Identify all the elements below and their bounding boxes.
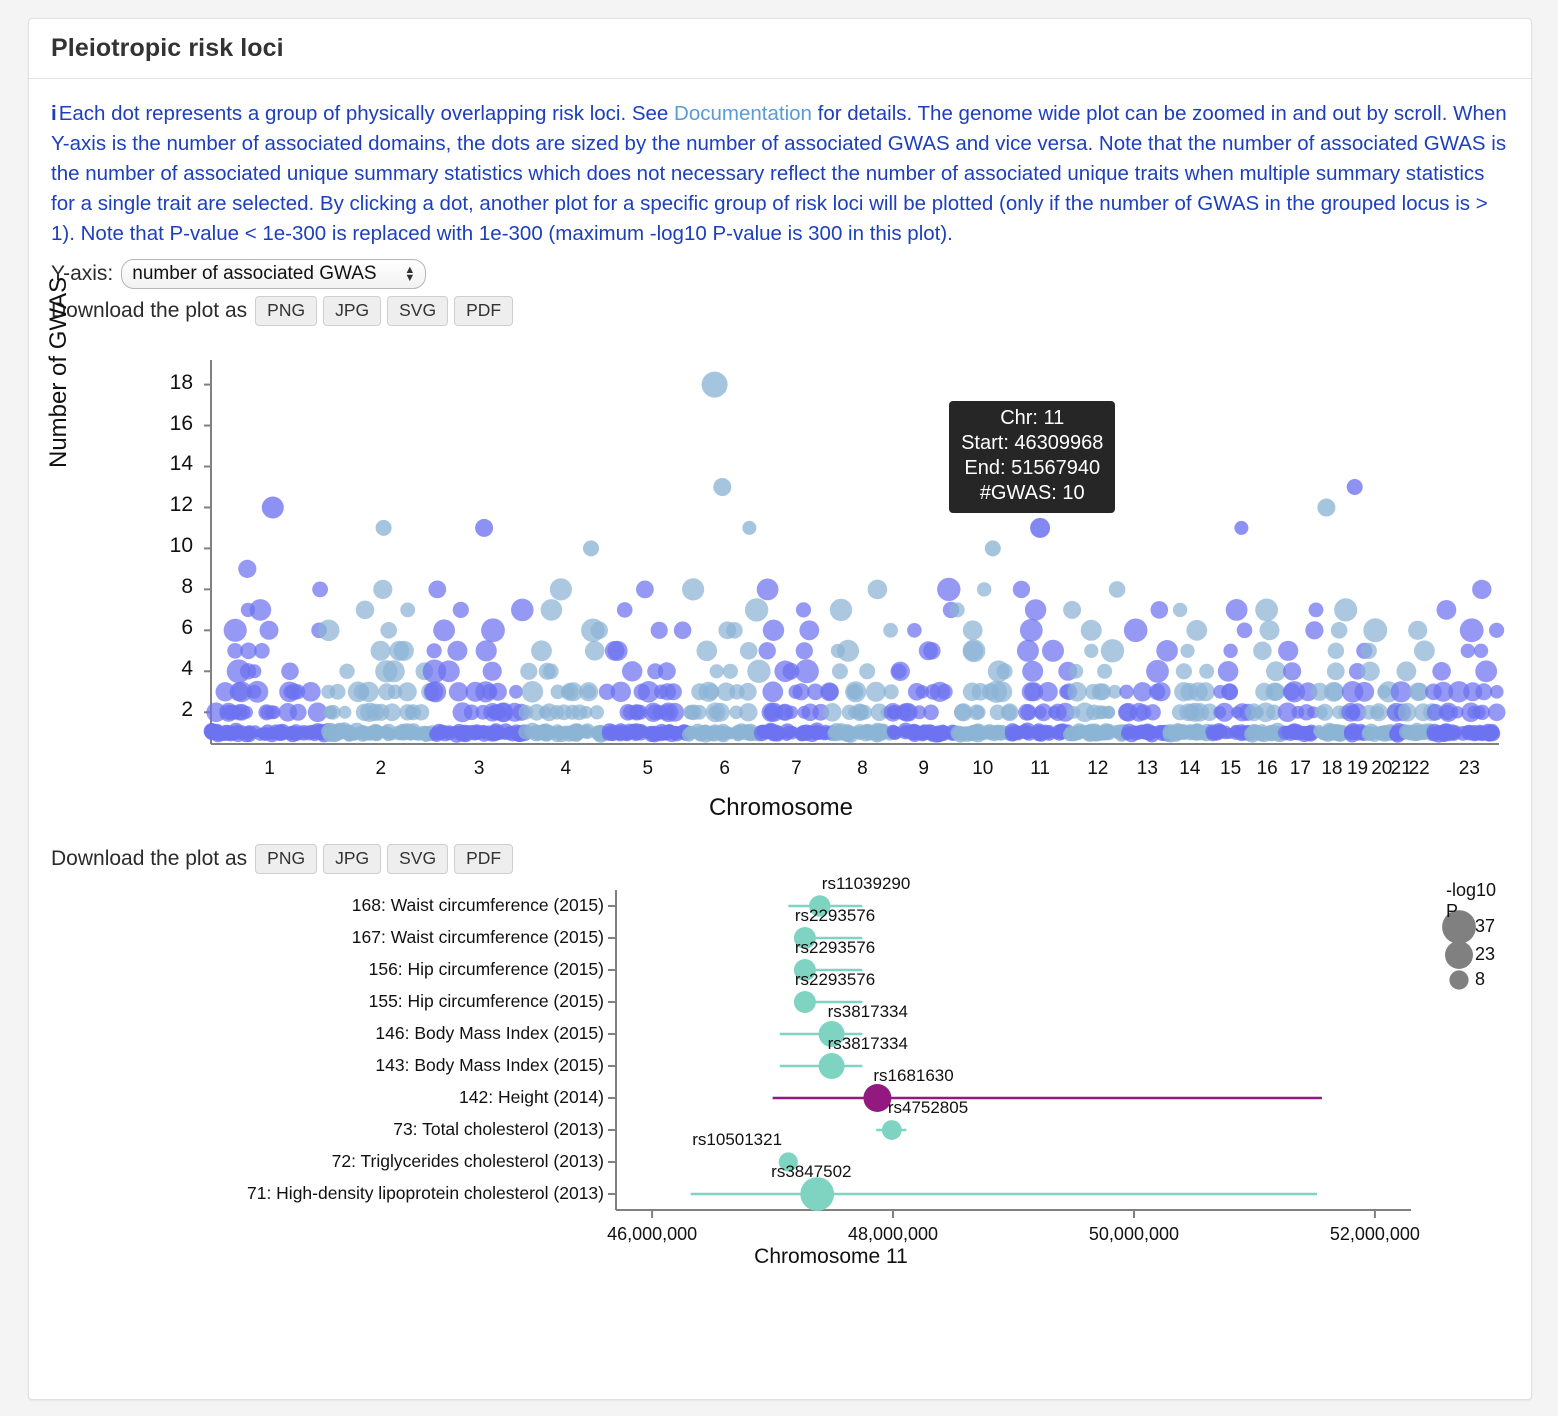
- locus-plot-canvas[interactable]: [51, 880, 1511, 1280]
- y-tick-label: 10: [153, 534, 193, 558]
- tooltip-chr: Chr: 11: [961, 406, 1103, 431]
- y-tick-label: 6: [153, 616, 193, 640]
- snp-label: rs11039290: [822, 874, 911, 894]
- locus-zoom-plot[interactable]: 168: Waist circumference (2015)167: Wais…: [51, 880, 1511, 1280]
- x-tick-label: 3: [459, 758, 499, 780]
- tooltip-gwas: #GWAS: 10: [961, 481, 1103, 506]
- trait-label: 167: Waist circumference (2015): [352, 927, 604, 948]
- trait-label: 143: Body Mass Index (2015): [375, 1055, 604, 1076]
- x-tick-label: 4: [546, 758, 586, 780]
- card-body: iEach dot represents a group of physical…: [29, 79, 1531, 1280]
- documentation-link[interactable]: Documentation: [674, 102, 812, 125]
- download-svg-button-top[interactable]: SVG: [387, 296, 448, 326]
- download-pdf-button-bottom[interactable]: PDF: [454, 844, 513, 874]
- point-tooltip: Chr: 11 Start: 46309968 End: 51567940 #G…: [949, 401, 1115, 513]
- download-jpg-button-top[interactable]: JPG: [323, 296, 381, 326]
- snp-label: rs2293576: [795, 938, 875, 958]
- pleiotropic-risk-loci-card: Pleiotropic risk loci iEach dot represen…: [28, 18, 1532, 1400]
- y-tick-label: 12: [153, 493, 193, 517]
- y-tick-label: 8: [153, 575, 193, 599]
- genome-plot-canvas[interactable]: [51, 342, 1511, 822]
- x-tick-label: 8: [842, 758, 882, 780]
- info-paragraph: iEach dot represents a group of physical…: [51, 99, 1509, 249]
- yaxis-select-wrapper: number of associated GWASnumber of assoc…: [121, 259, 426, 289]
- locus-x-tick-label: 52,000,000: [1295, 1224, 1455, 1245]
- locus-x-tick-label: 46,000,000: [572, 1224, 732, 1245]
- genome-wide-plot[interactable]: Number of GWAS Chromosome 24681012141618…: [51, 342, 1511, 822]
- x-tick-label: 7: [776, 758, 816, 780]
- snp-label: rs3817334: [828, 1034, 908, 1054]
- trait-label: 156: Hip circumference (2015): [369, 959, 604, 980]
- locus-x-tick-label: 50,000,000: [1054, 1224, 1214, 1245]
- trait-label: 142: Height (2014): [459, 1087, 604, 1108]
- x-tick-label: 1: [250, 758, 290, 780]
- x-tick-label: 9: [904, 758, 944, 780]
- x-tick-label: 15: [1211, 758, 1251, 780]
- yaxis-control-row: Y-axis: number of associated GWASnumber …: [51, 259, 1509, 289]
- info-text-before-link: Each dot represents a group of physicall…: [59, 102, 674, 125]
- snp-label: rs10501321: [692, 1130, 782, 1150]
- x-tick-label: 6: [705, 758, 745, 780]
- snp-label: rs3847502: [771, 1162, 851, 1182]
- locus-x-tick-label: 48,000,000: [813, 1224, 973, 1245]
- x-tick-label: 22: [1399, 758, 1439, 780]
- info-icon: i: [51, 102, 57, 125]
- x-tick-label: 11: [1020, 758, 1060, 780]
- trait-label: 72: Triglycerides cholesterol (2013): [332, 1151, 604, 1172]
- page-title: Pleiotropic risk loci: [51, 34, 284, 63]
- y-tick-label: 18: [153, 371, 193, 395]
- x-tick-label: 2: [361, 758, 401, 780]
- download-jpg-button-bottom[interactable]: JPG: [323, 844, 381, 874]
- download-svg-button-bottom[interactable]: SVG: [387, 844, 448, 874]
- snp-label: rs3817334: [828, 1002, 908, 1022]
- snp-label: rs1681630: [873, 1066, 953, 1086]
- legend-size-value: 23: [1475, 944, 1495, 965]
- trait-label: 155: Hip circumference (2015): [369, 991, 604, 1012]
- download-pdf-button-top[interactable]: PDF: [454, 296, 513, 326]
- legend-size-value: 37: [1475, 916, 1495, 937]
- snp-label: rs4752805: [888, 1098, 968, 1118]
- download-row-bottom: Download the plot as PNG JPG SVG PDF: [51, 844, 1509, 874]
- download-label-bottom: Download the plot as: [51, 847, 247, 871]
- snp-label: rs2293576: [795, 970, 875, 990]
- download-label-top: Download the plot as: [51, 299, 247, 323]
- snp-label: rs2293576: [795, 906, 875, 926]
- legend-size-value: 8: [1475, 969, 1485, 990]
- trait-label: 146: Body Mass Index (2015): [375, 1023, 604, 1044]
- locus-plot-xlabel: Chromosome 11: [631, 1245, 1031, 1269]
- y-tick-label: 4: [153, 657, 193, 681]
- x-tick-label: 13: [1127, 758, 1167, 780]
- download-row-top: Download the plot as PNG JPG SVG PDF: [51, 296, 1509, 326]
- x-tick-label: 5: [628, 758, 668, 780]
- yaxis-select[interactable]: number of associated GWASnumber of assoc…: [121, 259, 426, 289]
- trait-label: 168: Waist circumference (2015): [352, 895, 604, 916]
- x-tick-label: 12: [1078, 758, 1118, 780]
- trait-label: 73: Total cholesterol (2013): [393, 1119, 604, 1140]
- download-png-button-bottom[interactable]: PNG: [255, 844, 317, 874]
- y-tick-label: 14: [153, 452, 193, 476]
- tooltip-end: End: 51567940: [961, 456, 1103, 481]
- x-tick-label: 10: [963, 758, 1003, 780]
- x-tick-label: 23: [1449, 758, 1489, 780]
- y-tick-label: 2: [153, 698, 193, 722]
- trait-label: 71: High-density lipoprotein cholesterol…: [247, 1183, 604, 1204]
- download-png-button-top[interactable]: PNG: [255, 296, 317, 326]
- tooltip-start: Start: 46309968: [961, 431, 1103, 456]
- x-tick-label: 14: [1170, 758, 1210, 780]
- card-header: Pleiotropic risk loci: [29, 19, 1531, 79]
- y-tick-label: 16: [153, 412, 193, 436]
